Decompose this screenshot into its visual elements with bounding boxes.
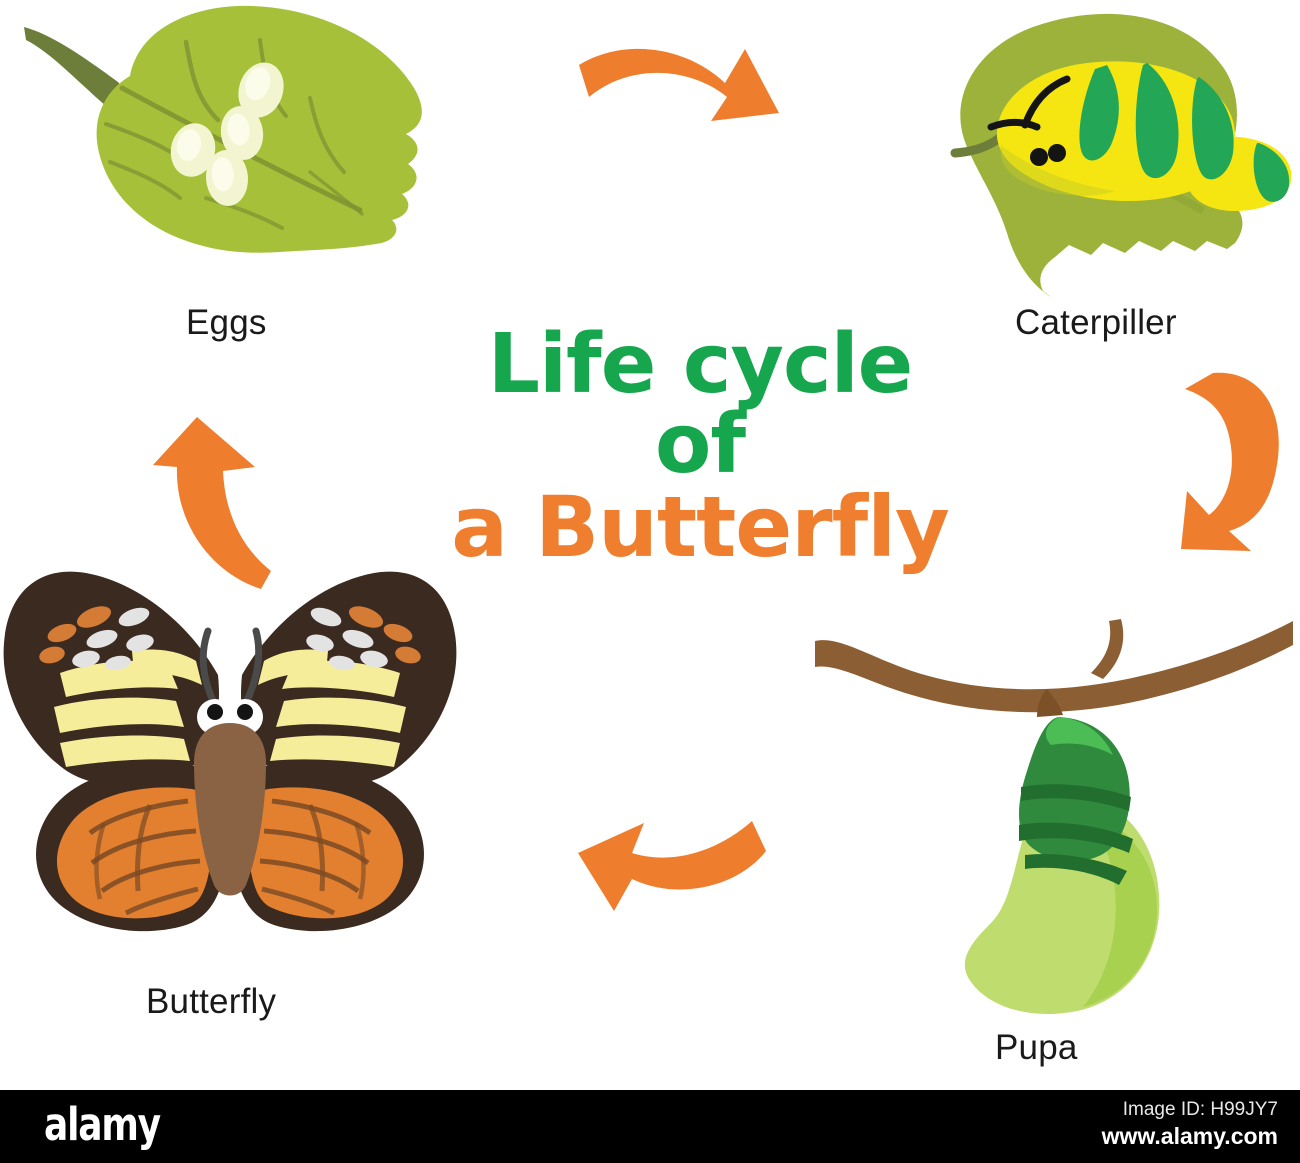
footer-credit: Image ID: H99JY7 www.alamy.com — [1102, 1098, 1278, 1151]
stage-label-eggs: Eggs — [186, 303, 267, 343]
watermark-footer-bar: alamy Image ID: H99JY7 www.alamy.com — [0, 1090, 1300, 1163]
page-title: Life cycle of a Butterfly — [440, 325, 960, 568]
arrow-caterpiller-to-pupa — [1155, 365, 1295, 555]
title-line-2: a Butterfly — [440, 486, 960, 568]
leaf-with-eggs-illustration — [10, 2, 440, 292]
alamy-logo: alamy — [44, 1098, 160, 1151]
stage-label-caterpiller: Caterpiller — [1015, 303, 1177, 343]
left-wing — [4, 572, 227, 932]
stage-illustration-eggs — [10, 2, 440, 292]
curved-arrow-right-icon — [575, 35, 785, 155]
caterpillar-on-leaf-illustration — [855, 5, 1295, 300]
arrow-pupa-to-butterfly — [570, 805, 770, 925]
stage-illustration-pupa — [815, 605, 1295, 1025]
curved-arrow-left-icon — [570, 805, 770, 925]
arrow-butterfly-to-eggs — [145, 405, 285, 595]
curved-arrow-up-icon — [145, 405, 285, 595]
butterfly-illustration — [0, 555, 470, 955]
chrysalis-on-branch-illustration — [815, 605, 1295, 1025]
arrow-eggs-to-caterpiller — [575, 35, 785, 155]
stage-label-butterfly: Butterfly — [146, 982, 276, 1022]
title-line-1: Life cycle of — [440, 325, 960, 486]
right-wing — [234, 572, 457, 932]
alamy-url-text: www.alamy.com — [1102, 1122, 1278, 1151]
stage-illustration-caterpiller — [855, 5, 1295, 300]
stage-illustration-butterfly — [0, 555, 470, 955]
image-id-text: Image ID: H99JY7 — [1102, 1098, 1278, 1122]
life-cycle-diagram: Life cycle of a Butterfly Eggs Caterpill… — [0, 0, 1300, 1163]
curved-arrow-down-icon — [1155, 365, 1295, 555]
stage-label-pupa: Pupa — [995, 1028, 1078, 1068]
